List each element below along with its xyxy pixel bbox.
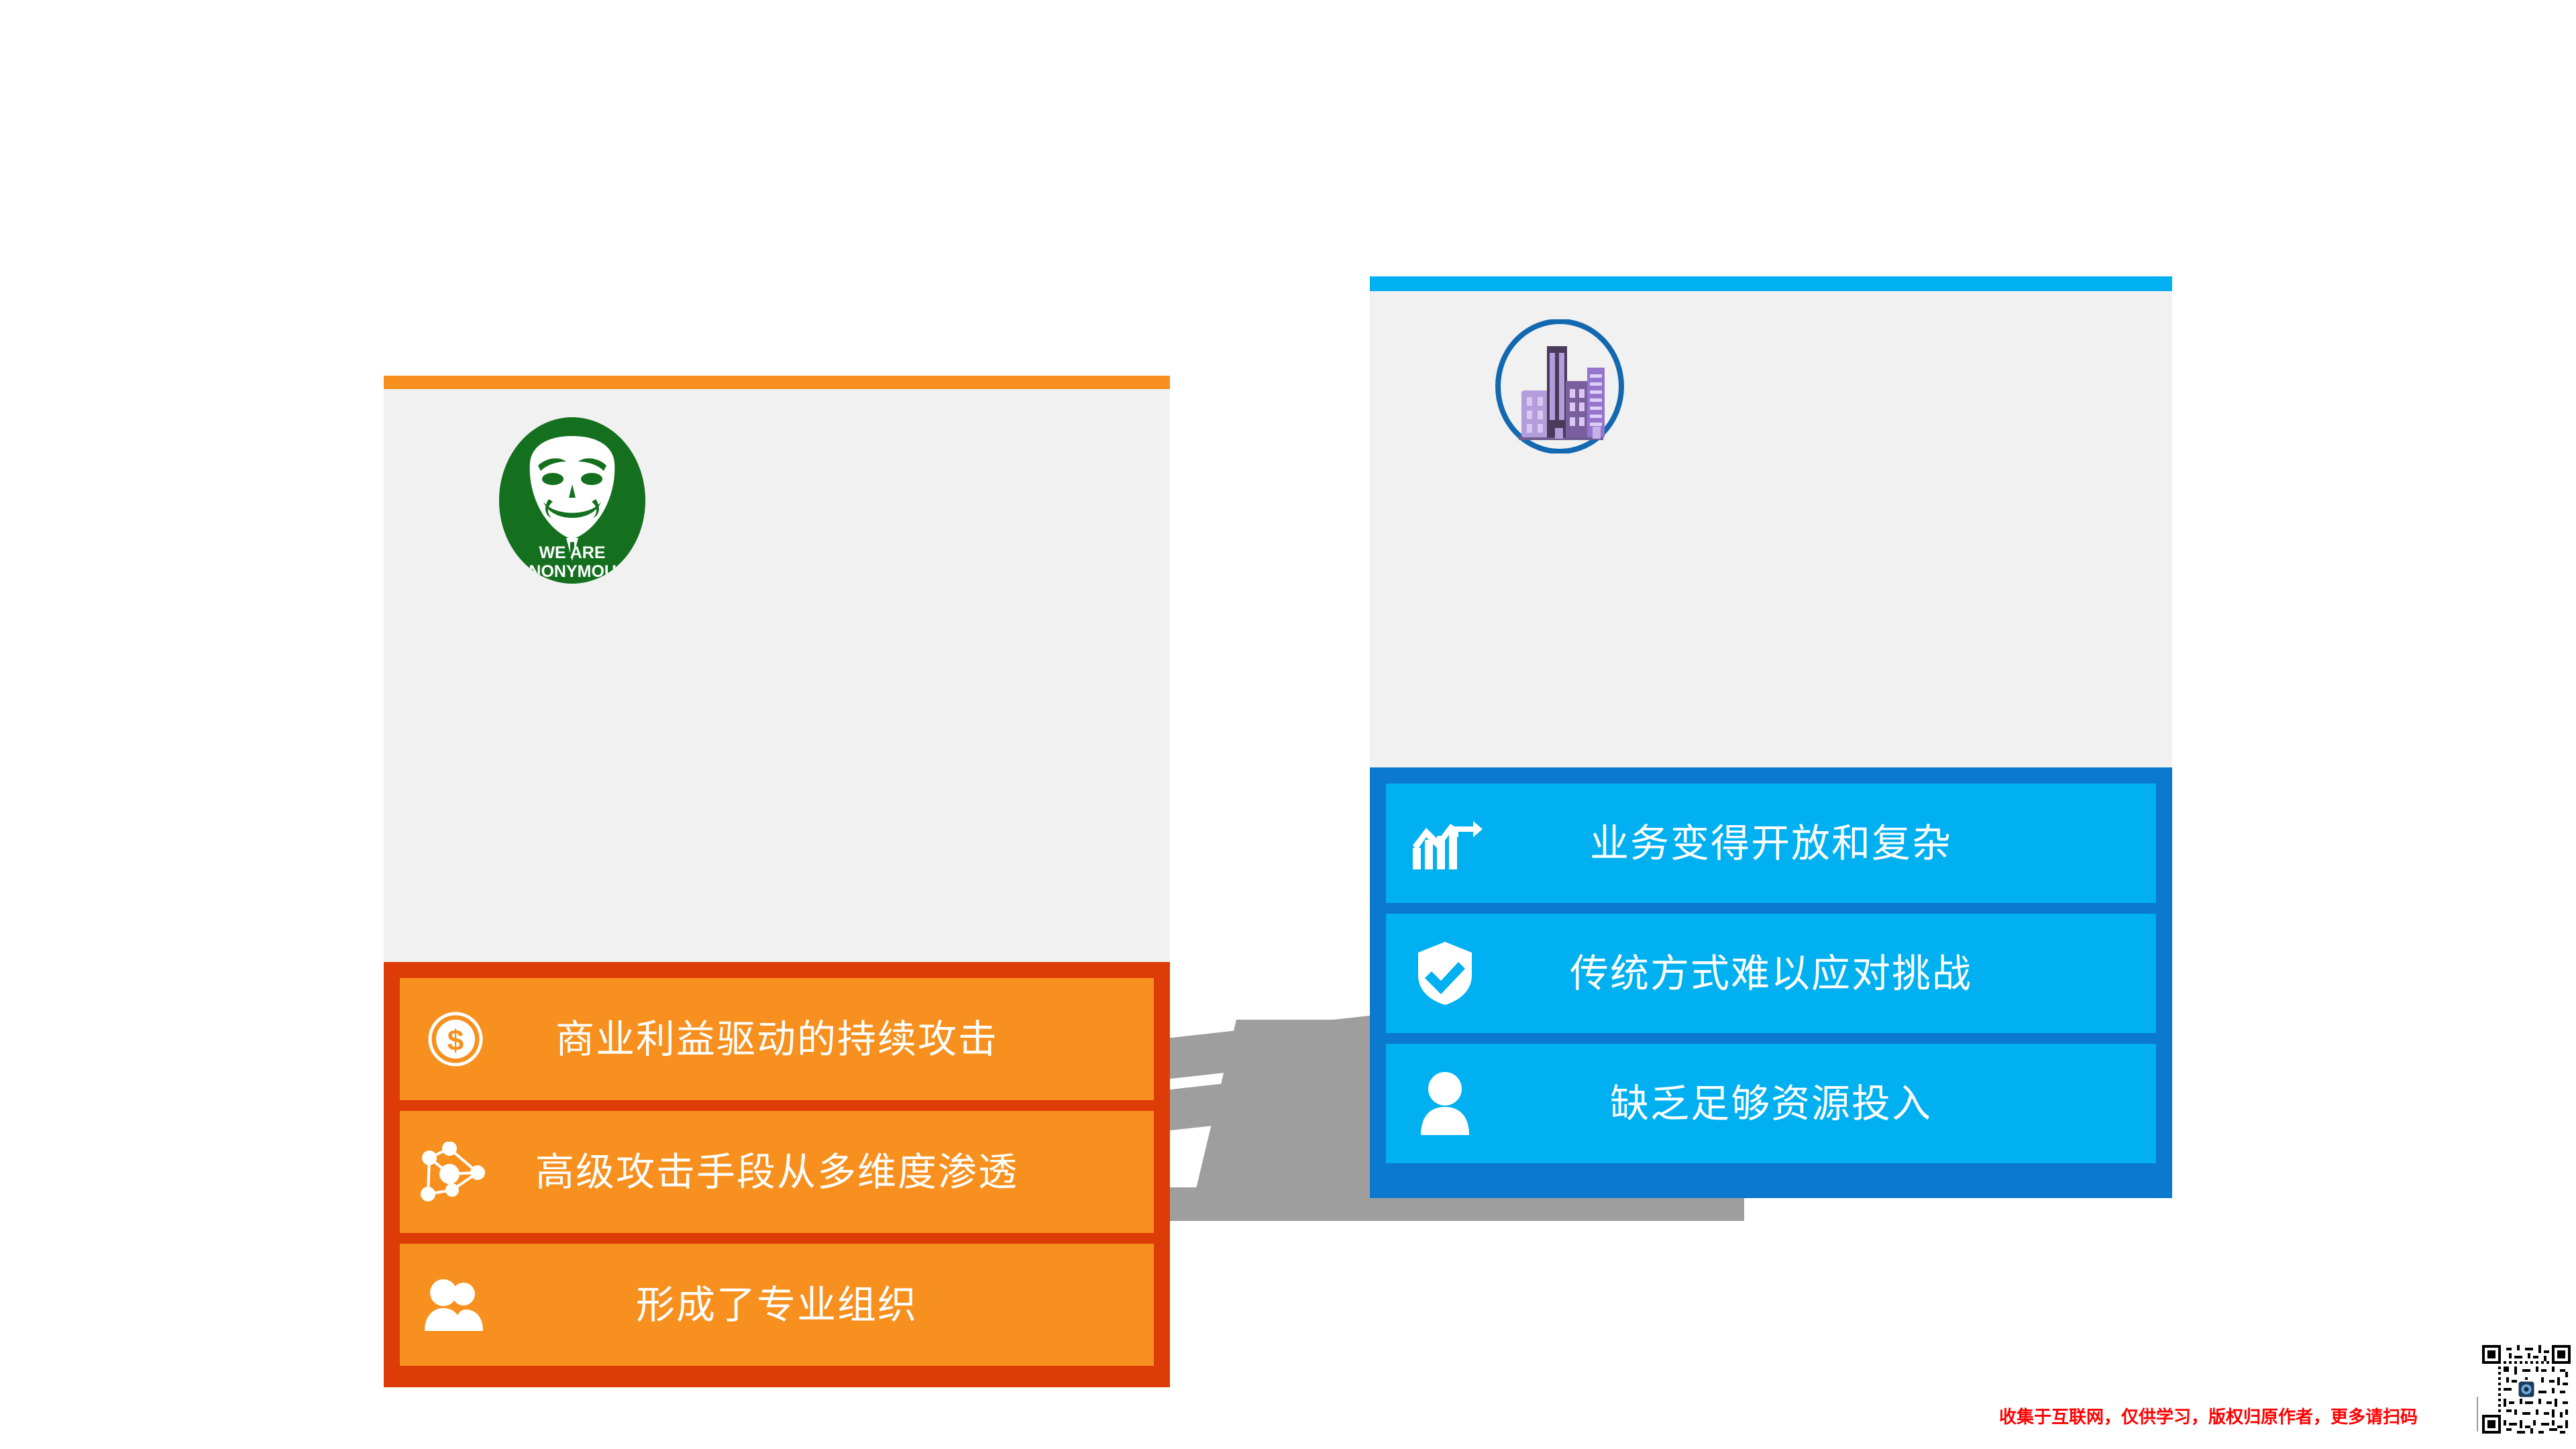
growth-chart-arrow-icon — [1411, 813, 1483, 871]
watermark-divider — [2477, 1397, 2478, 1432]
right-card-accent-bar — [1370, 276, 2172, 291]
threat-row-2[interactable]: 高级攻击手段从多维度渗透 — [400, 1111, 1154, 1233]
network-nodes-icon — [420, 1142, 487, 1202]
watermark-text: 收集于互联网，仅供学习，版权归原作者，更多请扫码 — [1999, 1409, 2424, 1426]
shield-check-icon — [1415, 941, 1474, 1006]
anonymous-mask-logo: WE ARE ANONYMOUS — [499, 417, 645, 584]
anonymous-line2: ANONYMOUS — [517, 562, 627, 581]
svg-text:$: $ — [447, 1024, 464, 1057]
threat-row-2-label: 高级攻击手段从多维度渗透 — [400, 1152, 1154, 1191]
business-row-1-label: 业务变得开放和复杂 — [1386, 824, 2156, 863]
business-rows-block: 业务变得开放和复杂 传统方式难以应对挑战 缺乏足够资源投入 — [1370, 767, 2172, 1198]
business-row-3-label: 缺乏足够资源投入 — [1386, 1084, 2156, 1123]
threat-row-1[interactable]: $ 商业利益驱动的持续攻击 — [400, 978, 1154, 1100]
threat-row-3[interactable]: 形成了专业组织 — [400, 1244, 1154, 1366]
users-group-icon — [421, 1277, 487, 1332]
threat-landscape-card: WE ARE ANONYMOUS $ 商业利益驱动的持续攻击 — [384, 376, 1170, 1012]
person-icon — [1418, 1071, 1472, 1135]
left-card-header: WE ARE ANONYMOUS — [384, 389, 1170, 962]
city-buildings-icon — [1495, 319, 1625, 453]
threat-rows-block: $ 商业利益驱动的持续攻击 — [384, 962, 1170, 1387]
right-card-header — [1370, 291, 2172, 767]
business-challenge-card: 业务变得开放和复杂 传统方式难以应对挑战 缺乏足够资源投入 — [1370, 276, 2172, 922]
left-card-accent-bar — [384, 376, 1170, 389]
anonymous-line1: WE ARE — [539, 543, 605, 562]
business-row-3[interactable]: 缺乏足够资源投入 — [1386, 1044, 2156, 1163]
business-row-2-label: 传统方式难以应对挑战 — [1386, 954, 2156, 993]
threat-row-3-label: 形成了专业组织 — [400, 1285, 1154, 1324]
watermark: 收集于互联网，仅供学习，版权归原作者，更多请扫码 — [1999, 1409, 2424, 1426]
business-row-2[interactable]: 传统方式难以应对挑战 — [1386, 914, 2156, 1033]
dollar-coin-icon: $ — [428, 1012, 483, 1067]
qr-code — [2482, 1345, 2571, 1434]
threat-row-1-label: 商业利益驱动的持续攻击 — [400, 1020, 1154, 1059]
business-row-1[interactable]: 业务变得开放和复杂 — [1386, 784, 2156, 903]
